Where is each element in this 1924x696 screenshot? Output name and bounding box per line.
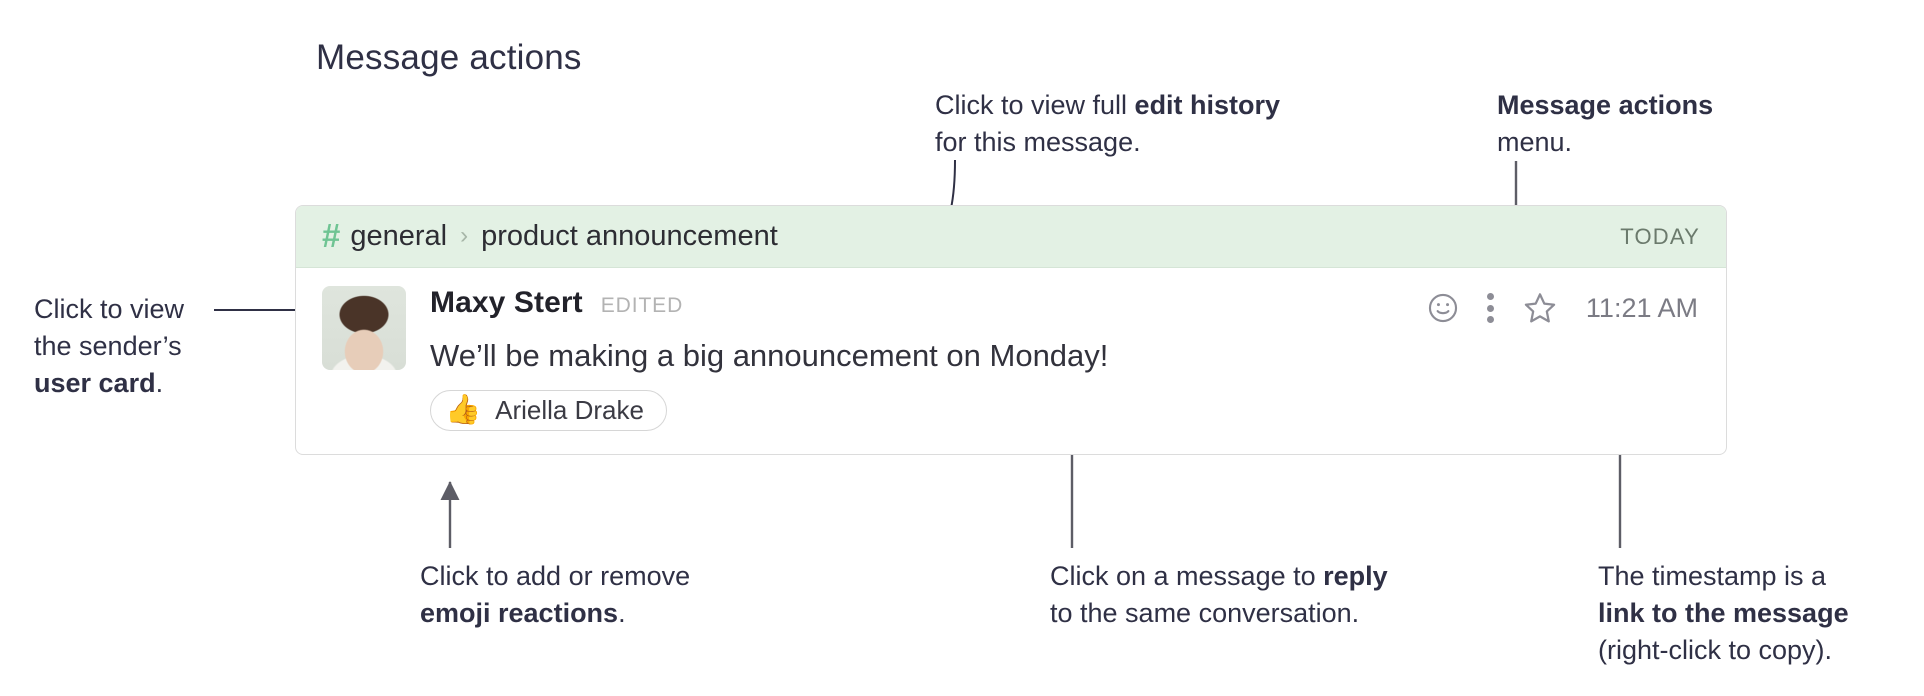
page-title: Message actions [316, 38, 582, 78]
emoji-reaction-icon[interactable] [1426, 291, 1460, 325]
annotation-edit-history-line2: for this message. [935, 124, 1280, 161]
reaction-pill[interactable]: 👍 Ariella Drake [430, 390, 667, 431]
annotation-user-card-line1: Click to view [34, 291, 184, 328]
annotation-actions-menu: Message actions menu. [1497, 87, 1713, 161]
annotation-emoji-line1: Click to add or remove [420, 558, 690, 595]
annotation-edit-history: Click to view full edit history for this… [935, 87, 1280, 161]
reaction-user-name: Ariella Drake [495, 395, 644, 426]
dot [1487, 316, 1494, 323]
message-text[interactable]: We’ll be making a big announcement on Mo… [430, 338, 1700, 374]
annotation-reply-bold: reply [1323, 561, 1388, 591]
annotation-actions-menu-line2: menu. [1497, 124, 1713, 161]
annotation-timestamp-line3: (right-click to copy). [1598, 632, 1849, 669]
hash-icon: # [322, 219, 340, 252]
annotation-user-card-bold: user card [34, 368, 156, 398]
edited-label[interactable]: EDITED [601, 294, 683, 318]
vertical-dots-icon[interactable] [1486, 291, 1496, 325]
annotation-reply-line2: to the same conversation. [1050, 595, 1388, 632]
annotation-edit-history-bold: edit history [1135, 90, 1281, 120]
message-card: # general › product announcement TODAY M… [295, 205, 1727, 455]
date-label: TODAY [1620, 224, 1700, 250]
annotation-edit-history-line1-pre: Click to view full [935, 90, 1135, 120]
breadcrumb-separator-icon: › [460, 222, 468, 250]
annotation-emoji-period: . [618, 598, 626, 628]
avatar[interactable] [322, 286, 406, 370]
annotation-timestamp-link: The timestamp is a link to the message (… [1598, 558, 1849, 669]
sender-name[interactable]: Maxy Stert [430, 286, 583, 320]
dot [1487, 293, 1494, 300]
annotation-actions-menu-bold: Message actions [1497, 90, 1713, 120]
annotation-timestamp-line1: The timestamp is a [1598, 558, 1849, 595]
message-controls: 11:21 AM [1426, 290, 1698, 326]
recipient-bar[interactable]: # general › product announcement TODAY [296, 206, 1726, 268]
star-icon[interactable] [1522, 290, 1558, 326]
annotation-reply: Click on a message to reply to the same … [1050, 558, 1388, 632]
annotation-reply-line1-pre: Click on a message to [1050, 561, 1323, 591]
stream-name[interactable]: general [350, 220, 447, 253]
topic-name[interactable]: product announcement [481, 220, 778, 253]
annotation-user-card: Click to view the sender’s user card. [34, 291, 184, 402]
annotation-emoji-reactions: Click to add or remove emoji reactions. [420, 558, 690, 632]
thumbs-up-icon: 👍 [445, 396, 481, 425]
message-row[interactable]: Maxy Stert EDITED We’ll be making a big … [296, 268, 1726, 431]
annotation-emoji-bold: emoji reactions [420, 598, 618, 628]
dot [1487, 305, 1494, 312]
annotation-user-card-line2: the sender’s [34, 328, 184, 365]
message-timestamp[interactable]: 11:21 AM [1586, 293, 1698, 324]
reactions-row: 👍 Ariella Drake [430, 390, 1700, 431]
annotation-user-card-period: . [156, 368, 164, 398]
annotation-timestamp-bold: link to the message [1598, 598, 1849, 628]
